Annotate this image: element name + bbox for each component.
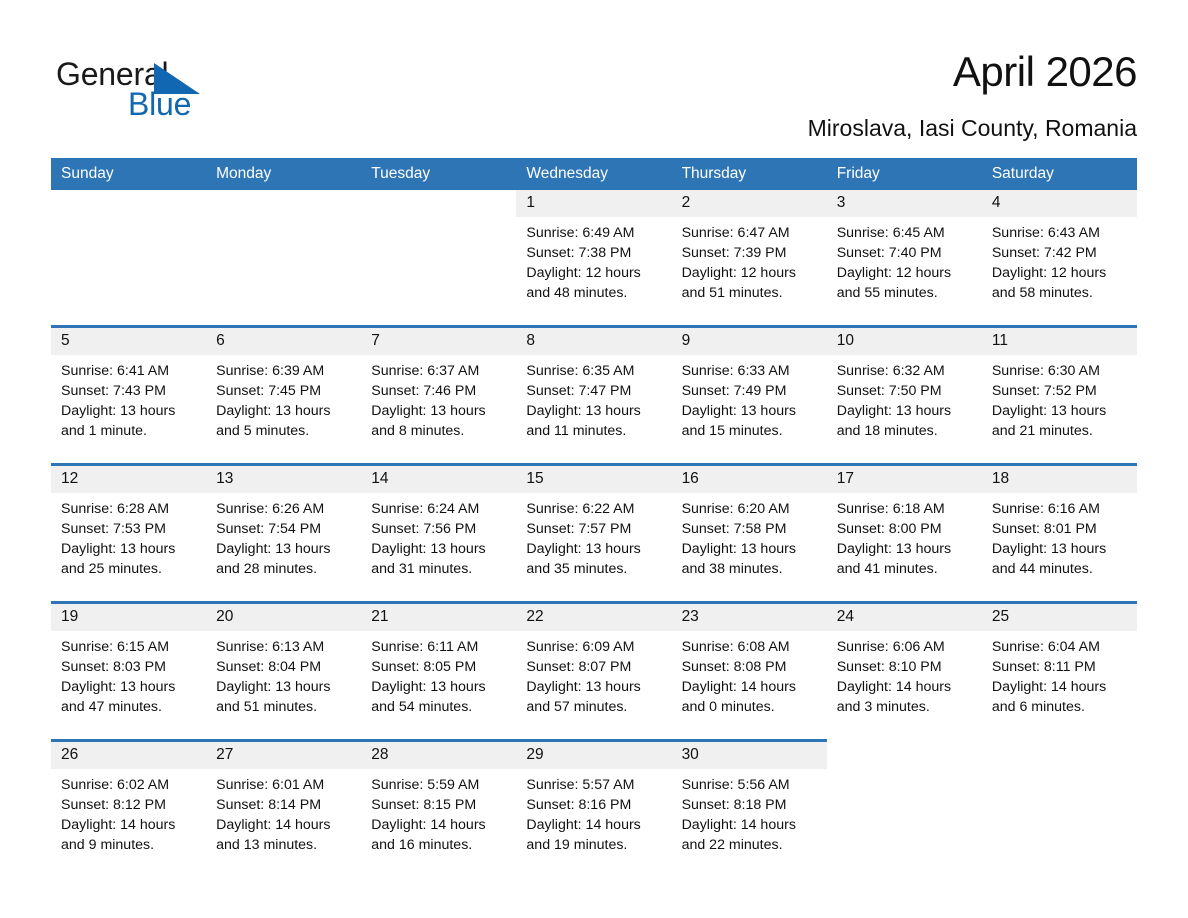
daylight-text-line1: Daylight: 13 hours xyxy=(682,539,815,559)
day-number: 15 xyxy=(516,466,671,493)
calendar-day-cell[interactable]: 2Sunrise: 6:47 AMSunset: 7:39 PMDaylight… xyxy=(672,190,827,327)
weekday-header-tuesday: Tuesday xyxy=(361,158,516,190)
daylight-text-line2: and 19 minutes. xyxy=(526,835,659,855)
day-number xyxy=(51,190,206,217)
page-subtitle-location: Miroslava, Iasi County, Romania xyxy=(808,115,1137,142)
daylight-text-line2: and 41 minutes. xyxy=(837,559,970,579)
calendar-grid: Sunday Monday Tuesday Wednesday Thursday… xyxy=(51,158,1137,877)
weekday-header-sunday: Sunday xyxy=(51,158,206,190)
calendar-day-cell[interactable]: 19Sunrise: 6:15 AMSunset: 8:03 PMDayligh… xyxy=(51,603,206,741)
day-number: 18 xyxy=(982,466,1137,493)
daylight-text-line1: Daylight: 13 hours xyxy=(216,539,349,559)
sunrise-text: Sunrise: 6:08 AM xyxy=(682,637,815,657)
sunset-text: Sunset: 7:42 PM xyxy=(992,243,1125,263)
daylight-text-line1: Daylight: 13 hours xyxy=(61,539,194,559)
day-details: Sunrise: 6:33 AMSunset: 7:49 PMDaylight:… xyxy=(672,355,827,441)
day-number: 4 xyxy=(982,190,1137,217)
sunset-text: Sunset: 7:50 PM xyxy=(837,381,970,401)
calendar-body: 1Sunrise: 6:49 AMSunset: 7:38 PMDaylight… xyxy=(51,190,1137,877)
day-number: 14 xyxy=(361,466,516,493)
weekday-header-monday: Monday xyxy=(206,158,361,190)
calendar-day-cell[interactable]: 12Sunrise: 6:28 AMSunset: 7:53 PMDayligh… xyxy=(51,465,206,603)
daylight-text-line2: and 44 minutes. xyxy=(992,559,1125,579)
calendar-day-cell[interactable]: 18Sunrise: 6:16 AMSunset: 8:01 PMDayligh… xyxy=(982,465,1137,603)
weekday-header-wednesday: Wednesday xyxy=(516,158,671,190)
sunrise-text: Sunrise: 6:39 AM xyxy=(216,361,349,381)
calendar-day-cell[interactable]: 30Sunrise: 5:56 AMSunset: 8:18 PMDayligh… xyxy=(672,741,827,878)
logo-text-blue: Blue xyxy=(128,88,191,120)
day-number: 24 xyxy=(827,604,982,631)
daylight-text-line2: and 8 minutes. xyxy=(371,421,504,441)
weekday-header-saturday: Saturday xyxy=(982,158,1137,190)
day-details: Sunrise: 6:16 AMSunset: 8:01 PMDaylight:… xyxy=(982,493,1137,579)
day-number: 10 xyxy=(827,328,982,355)
day-details: Sunrise: 6:15 AMSunset: 8:03 PMDaylight:… xyxy=(51,631,206,717)
sunrise-text: Sunrise: 6:26 AM xyxy=(216,499,349,519)
calendar-header-row: Sunday Monday Tuesday Wednesday Thursday… xyxy=(51,158,1137,190)
sunset-text: Sunset: 8:12 PM xyxy=(61,795,194,815)
sunrise-text: Sunrise: 6:47 AM xyxy=(682,223,815,243)
sunrise-text: Sunrise: 6:32 AM xyxy=(837,361,970,381)
daylight-text-line1: Daylight: 13 hours xyxy=(371,539,504,559)
daylight-text-line1: Daylight: 14 hours xyxy=(682,677,815,697)
day-details: Sunrise: 6:35 AMSunset: 7:47 PMDaylight:… xyxy=(516,355,671,441)
daylight-text-line1: Daylight: 13 hours xyxy=(837,539,970,559)
calendar-day-cell-empty xyxy=(206,190,361,327)
day-number: 2 xyxy=(672,190,827,217)
sunset-text: Sunset: 7:39 PM xyxy=(682,243,815,263)
daylight-text-line1: Daylight: 14 hours xyxy=(837,677,970,697)
daylight-text-line2: and 58 minutes. xyxy=(992,283,1125,303)
sunrise-text: Sunrise: 6:18 AM xyxy=(837,499,970,519)
day-number: 8 xyxy=(516,328,671,355)
day-details: Sunrise: 5:56 AMSunset: 8:18 PMDaylight:… xyxy=(672,769,827,855)
sunset-text: Sunset: 7:46 PM xyxy=(371,381,504,401)
sunrise-text: Sunrise: 6:24 AM xyxy=(371,499,504,519)
day-number: 26 xyxy=(51,742,206,769)
sunset-text: Sunset: 8:16 PM xyxy=(526,795,659,815)
day-number: 6 xyxy=(206,328,361,355)
day-number: 29 xyxy=(516,742,671,769)
sunset-text: Sunset: 7:49 PM xyxy=(682,381,815,401)
calendar-day-cell[interactable]: 11Sunrise: 6:30 AMSunset: 7:52 PMDayligh… xyxy=(982,327,1137,465)
daylight-text-line2: and 5 minutes. xyxy=(216,421,349,441)
daylight-text-line2: and 57 minutes. xyxy=(526,697,659,717)
calendar-day-cell-empty xyxy=(827,741,982,878)
sunrise-text: Sunrise: 6:33 AM xyxy=(682,361,815,381)
sunset-text: Sunset: 8:03 PM xyxy=(61,657,194,677)
sunset-text: Sunset: 7:40 PM xyxy=(837,243,970,263)
day-details: Sunrise: 6:43 AMSunset: 7:42 PMDaylight:… xyxy=(982,217,1137,303)
calendar-day-cell[interactable]: 10Sunrise: 6:32 AMSunset: 7:50 PMDayligh… xyxy=(827,327,982,465)
sunrise-text: Sunrise: 6:43 AM xyxy=(992,223,1125,243)
day-number xyxy=(206,190,361,217)
daylight-text-line2: and 3 minutes. xyxy=(837,697,970,717)
sunset-text: Sunset: 7:57 PM xyxy=(526,519,659,539)
calendar-week-row: 26Sunrise: 6:02 AMSunset: 8:12 PMDayligh… xyxy=(51,741,1137,878)
daylight-text-line1: Daylight: 12 hours xyxy=(837,263,970,283)
day-number: 22 xyxy=(516,604,671,631)
daylight-text-line1: Daylight: 13 hours xyxy=(61,677,194,697)
daylight-text-line1: Daylight: 14 hours xyxy=(526,815,659,835)
calendar-day-cell[interactable]: 20Sunrise: 6:13 AMSunset: 8:04 PMDayligh… xyxy=(206,603,361,741)
sunset-text: Sunset: 8:01 PM xyxy=(992,519,1125,539)
sunrise-text: Sunrise: 6:20 AM xyxy=(682,499,815,519)
calendar-day-cell[interactable]: 25Sunrise: 6:04 AMSunset: 8:11 PMDayligh… xyxy=(982,603,1137,741)
day-details: Sunrise: 6:37 AMSunset: 7:46 PMDaylight:… xyxy=(361,355,516,441)
calendar-day-cell[interactable]: 23Sunrise: 6:08 AMSunset: 8:08 PMDayligh… xyxy=(672,603,827,741)
daylight-text-line2: and 21 minutes. xyxy=(992,421,1125,441)
day-number: 21 xyxy=(361,604,516,631)
daylight-text-line2: and 55 minutes. xyxy=(837,283,970,303)
day-number: 13 xyxy=(206,466,361,493)
day-details: Sunrise: 5:59 AMSunset: 8:15 PMDaylight:… xyxy=(361,769,516,855)
daylight-text-line2: and 0 minutes. xyxy=(682,697,815,717)
calendar-day-cell[interactable]: 24Sunrise: 6:06 AMSunset: 8:10 PMDayligh… xyxy=(827,603,982,741)
day-details: Sunrise: 6:06 AMSunset: 8:10 PMDaylight:… xyxy=(827,631,982,717)
sunset-text: Sunset: 8:05 PM xyxy=(371,657,504,677)
day-number xyxy=(982,741,1137,768)
day-number: 19 xyxy=(51,604,206,631)
sunset-text: Sunset: 8:14 PM xyxy=(216,795,349,815)
day-details: Sunrise: 6:08 AMSunset: 8:08 PMDaylight:… xyxy=(672,631,827,717)
sunrise-text: Sunrise: 6:01 AM xyxy=(216,775,349,795)
day-number: 20 xyxy=(206,604,361,631)
calendar-day-cell-empty xyxy=(51,190,206,327)
day-number: 9 xyxy=(672,328,827,355)
day-details: Sunrise: 6:41 AMSunset: 7:43 PMDaylight:… xyxy=(51,355,206,441)
sunset-text: Sunset: 7:54 PM xyxy=(216,519,349,539)
daylight-text-line1: Daylight: 14 hours xyxy=(61,815,194,835)
daylight-text-line2: and 22 minutes. xyxy=(682,835,815,855)
day-number xyxy=(361,190,516,217)
page-header: General Blue April 2026 Miroslava, Iasi … xyxy=(51,40,1137,150)
calendar-day-cell[interactable]: 17Sunrise: 6:18 AMSunset: 8:00 PMDayligh… xyxy=(827,465,982,603)
sunset-text: Sunset: 7:52 PM xyxy=(992,381,1125,401)
day-number: 27 xyxy=(206,742,361,769)
sunrise-text: Sunrise: 5:57 AM xyxy=(526,775,659,795)
sunrise-text: Sunrise: 6:16 AM xyxy=(992,499,1125,519)
calendar-day-cell[interactable]: 26Sunrise: 6:02 AMSunset: 8:12 PMDayligh… xyxy=(51,741,206,878)
daylight-text-line2: and 11 minutes. xyxy=(526,421,659,441)
daylight-text-line2: and 51 minutes. xyxy=(216,697,349,717)
daylight-text-line2: and 18 minutes. xyxy=(837,421,970,441)
sunrise-text: Sunrise: 6:35 AM xyxy=(526,361,659,381)
calendar-day-cell[interactable]: 13Sunrise: 6:26 AMSunset: 7:54 PMDayligh… xyxy=(206,465,361,603)
sunset-text: Sunset: 8:07 PM xyxy=(526,657,659,677)
daylight-text-line1: Daylight: 13 hours xyxy=(526,401,659,421)
calendar-day-cell[interactable]: 28Sunrise: 5:59 AMSunset: 8:15 PMDayligh… xyxy=(361,741,516,878)
daylight-text-line1: Daylight: 13 hours xyxy=(526,539,659,559)
day-details: Sunrise: 6:02 AMSunset: 8:12 PMDaylight:… xyxy=(51,769,206,855)
general-blue-logo: General Blue xyxy=(51,50,251,130)
daylight-text-line2: and 1 minute. xyxy=(61,421,194,441)
calendar-day-cell[interactable]: 1Sunrise: 6:49 AMSunset: 7:38 PMDaylight… xyxy=(516,190,671,327)
sunset-text: Sunset: 8:11 PM xyxy=(992,657,1125,677)
daylight-text-line1: Daylight: 13 hours xyxy=(992,539,1125,559)
daylight-text-line2: and 28 minutes. xyxy=(216,559,349,579)
daylight-text-line1: Daylight: 13 hours xyxy=(371,401,504,421)
daylight-text-line2: and 51 minutes. xyxy=(682,283,815,303)
daylight-text-line1: Daylight: 13 hours xyxy=(216,401,349,421)
day-number: 16 xyxy=(672,466,827,493)
daylight-text-line1: Daylight: 12 hours xyxy=(682,263,815,283)
daylight-text-line2: and 54 minutes. xyxy=(371,697,504,717)
sunrise-text: Sunrise: 6:06 AM xyxy=(837,637,970,657)
daylight-text-line2: and 16 minutes. xyxy=(371,835,504,855)
day-number: 30 xyxy=(672,742,827,769)
sunrise-text: Sunrise: 6:41 AM xyxy=(61,361,194,381)
daylight-text-line1: Daylight: 12 hours xyxy=(526,263,659,283)
calendar-day-cell[interactable]: 29Sunrise: 5:57 AMSunset: 8:16 PMDayligh… xyxy=(516,741,671,878)
daylight-text-line2: and 15 minutes. xyxy=(682,421,815,441)
day-details: Sunrise: 6:11 AMSunset: 8:05 PMDaylight:… xyxy=(361,631,516,717)
sunset-text: Sunset: 7:45 PM xyxy=(216,381,349,401)
sunset-text: Sunset: 8:10 PM xyxy=(837,657,970,677)
daylight-text-line2: and 35 minutes. xyxy=(526,559,659,579)
day-details: Sunrise: 6:04 AMSunset: 8:11 PMDaylight:… xyxy=(982,631,1137,717)
daylight-text-line1: Daylight: 14 hours xyxy=(682,815,815,835)
daylight-text-line2: and 25 minutes. xyxy=(61,559,194,579)
sunset-text: Sunset: 8:15 PM xyxy=(371,795,504,815)
calendar-week-row: 1Sunrise: 6:49 AMSunset: 7:38 PMDaylight… xyxy=(51,190,1137,327)
calendar-day-cell-empty xyxy=(982,741,1137,878)
sunset-text: Sunset: 7:43 PM xyxy=(61,381,194,401)
sunset-text: Sunset: 7:53 PM xyxy=(61,519,194,539)
sunset-text: Sunset: 7:56 PM xyxy=(371,519,504,539)
day-number: 5 xyxy=(51,328,206,355)
calendar-day-cell[interactable]: 14Sunrise: 6:24 AMSunset: 7:56 PMDayligh… xyxy=(361,465,516,603)
day-details: Sunrise: 6:22 AMSunset: 7:57 PMDaylight:… xyxy=(516,493,671,579)
daylight-text-line1: Daylight: 14 hours xyxy=(992,677,1125,697)
sunset-text: Sunset: 8:00 PM xyxy=(837,519,970,539)
sunrise-text: Sunrise: 6:09 AM xyxy=(526,637,659,657)
daylight-text-line1: Daylight: 13 hours xyxy=(216,677,349,697)
day-details: Sunrise: 6:47 AMSunset: 7:39 PMDaylight:… xyxy=(672,217,827,303)
daylight-text-line2: and 6 minutes. xyxy=(992,697,1125,717)
daylight-text-line1: Daylight: 14 hours xyxy=(216,815,349,835)
day-details: Sunrise: 5:57 AMSunset: 8:16 PMDaylight:… xyxy=(516,769,671,855)
sunset-text: Sunset: 8:18 PM xyxy=(682,795,815,815)
calendar-page: General Blue April 2026 Miroslava, Iasi … xyxy=(0,0,1188,918)
sunrise-text: Sunrise: 6:45 AM xyxy=(837,223,970,243)
sunrise-text: Sunrise: 6:49 AM xyxy=(526,223,659,243)
calendar-week-row: 5Sunrise: 6:41 AMSunset: 7:43 PMDaylight… xyxy=(51,327,1137,465)
daylight-text-line2: and 48 minutes. xyxy=(526,283,659,303)
calendar-day-cell[interactable]: 4Sunrise: 6:43 AMSunset: 7:42 PMDaylight… xyxy=(982,190,1137,327)
calendar-day-cell[interactable]: 7Sunrise: 6:37 AMSunset: 7:46 PMDaylight… xyxy=(361,327,516,465)
daylight-text-line1: Daylight: 13 hours xyxy=(526,677,659,697)
day-details: Sunrise: 6:09 AMSunset: 8:07 PMDaylight:… xyxy=(516,631,671,717)
day-details: Sunrise: 6:26 AMSunset: 7:54 PMDaylight:… xyxy=(206,493,361,579)
sunrise-text: Sunrise: 6:11 AM xyxy=(371,637,504,657)
sunrise-text: Sunrise: 6:04 AM xyxy=(992,637,1125,657)
day-number: 28 xyxy=(361,742,516,769)
day-number xyxy=(827,741,982,768)
daylight-text-line1: Daylight: 12 hours xyxy=(992,263,1125,283)
day-number: 7 xyxy=(361,328,516,355)
calendar-table: Sunday Monday Tuesday Wednesday Thursday… xyxy=(51,158,1137,877)
calendar-day-cell[interactable]: 5Sunrise: 6:41 AMSunset: 7:43 PMDaylight… xyxy=(51,327,206,465)
calendar-day-cell[interactable]: 16Sunrise: 6:20 AMSunset: 7:58 PMDayligh… xyxy=(672,465,827,603)
sunrise-text: Sunrise: 5:56 AM xyxy=(682,775,815,795)
day-details: Sunrise: 6:24 AMSunset: 7:56 PMDaylight:… xyxy=(361,493,516,579)
calendar-week-row: 12Sunrise: 6:28 AMSunset: 7:53 PMDayligh… xyxy=(51,465,1137,603)
daylight-text-line2: and 47 minutes. xyxy=(61,697,194,717)
sunrise-text: Sunrise: 6:13 AM xyxy=(216,637,349,657)
day-details: Sunrise: 6:30 AMSunset: 7:52 PMDaylight:… xyxy=(982,355,1137,441)
sunset-text: Sunset: 8:08 PM xyxy=(682,657,815,677)
day-details: Sunrise: 6:28 AMSunset: 7:53 PMDaylight:… xyxy=(51,493,206,579)
day-details: Sunrise: 6:20 AMSunset: 7:58 PMDaylight:… xyxy=(672,493,827,579)
daylight-text-line1: Daylight: 13 hours xyxy=(371,677,504,697)
weekday-header-friday: Friday xyxy=(827,158,982,190)
sunrise-text: Sunrise: 6:15 AM xyxy=(61,637,194,657)
calendar-day-cell-empty xyxy=(361,190,516,327)
day-details: Sunrise: 6:39 AMSunset: 7:45 PMDaylight:… xyxy=(206,355,361,441)
day-details: Sunrise: 6:18 AMSunset: 8:00 PMDaylight:… xyxy=(827,493,982,579)
daylight-text-line1: Daylight: 13 hours xyxy=(992,401,1125,421)
day-number: 23 xyxy=(672,604,827,631)
sunrise-text: Sunrise: 6:28 AM xyxy=(61,499,194,519)
day-number: 25 xyxy=(982,604,1137,631)
daylight-text-line1: Daylight: 14 hours xyxy=(371,815,504,835)
sunset-text: Sunset: 7:38 PM xyxy=(526,243,659,263)
daylight-text-line1: Daylight: 13 hours xyxy=(837,401,970,421)
sunrise-text: Sunrise: 5:59 AM xyxy=(371,775,504,795)
calendar-day-cell[interactable]: 21Sunrise: 6:11 AMSunset: 8:05 PMDayligh… xyxy=(361,603,516,741)
page-title: April 2026 xyxy=(953,48,1137,96)
day-details: Sunrise: 6:45 AMSunset: 7:40 PMDaylight:… xyxy=(827,217,982,303)
sunset-text: Sunset: 7:58 PM xyxy=(682,519,815,539)
day-details: Sunrise: 6:49 AMSunset: 7:38 PMDaylight:… xyxy=(516,217,671,303)
day-number: 3 xyxy=(827,190,982,217)
sunset-text: Sunset: 8:04 PM xyxy=(216,657,349,677)
day-number: 17 xyxy=(827,466,982,493)
day-details: Sunrise: 6:13 AMSunset: 8:04 PMDaylight:… xyxy=(206,631,361,717)
daylight-text-line1: Daylight: 13 hours xyxy=(682,401,815,421)
day-number: 11 xyxy=(982,328,1137,355)
sunrise-text: Sunrise: 6:22 AM xyxy=(526,499,659,519)
weekday-header-thursday: Thursday xyxy=(672,158,827,190)
calendar-day-cell[interactable]: 6Sunrise: 6:39 AMSunset: 7:45 PMDaylight… xyxy=(206,327,361,465)
sunset-text: Sunset: 7:47 PM xyxy=(526,381,659,401)
calendar-day-cell[interactable]: 9Sunrise: 6:33 AMSunset: 7:49 PMDaylight… xyxy=(672,327,827,465)
day-details: Sunrise: 6:32 AMSunset: 7:50 PMDaylight:… xyxy=(827,355,982,441)
sunrise-text: Sunrise: 6:30 AM xyxy=(992,361,1125,381)
day-number: 12 xyxy=(51,466,206,493)
calendar-day-cell[interactable]: 8Sunrise: 6:35 AMSunset: 7:47 PMDaylight… xyxy=(516,327,671,465)
calendar-day-cell[interactable]: 22Sunrise: 6:09 AMSunset: 8:07 PMDayligh… xyxy=(516,603,671,741)
calendar-week-row: 19Sunrise: 6:15 AMSunset: 8:03 PMDayligh… xyxy=(51,603,1137,741)
daylight-text-line2: and 13 minutes. xyxy=(216,835,349,855)
sunrise-text: Sunrise: 6:37 AM xyxy=(371,361,504,381)
daylight-text-line1: Daylight: 13 hours xyxy=(61,401,194,421)
calendar-day-cell[interactable]: 15Sunrise: 6:22 AMSunset: 7:57 PMDayligh… xyxy=(516,465,671,603)
daylight-text-line2: and 38 minutes. xyxy=(682,559,815,579)
daylight-text-line2: and 31 minutes. xyxy=(371,559,504,579)
day-number: 1 xyxy=(516,190,671,217)
sunrise-text: Sunrise: 6:02 AM xyxy=(61,775,194,795)
daylight-text-line2: and 9 minutes. xyxy=(61,835,194,855)
day-details: Sunrise: 6:01 AMSunset: 8:14 PMDaylight:… xyxy=(206,769,361,855)
calendar-day-cell[interactable]: 27Sunrise: 6:01 AMSunset: 8:14 PMDayligh… xyxy=(206,741,361,878)
calendar-day-cell[interactable]: 3Sunrise: 6:45 AMSunset: 7:40 PMDaylight… xyxy=(827,190,982,327)
